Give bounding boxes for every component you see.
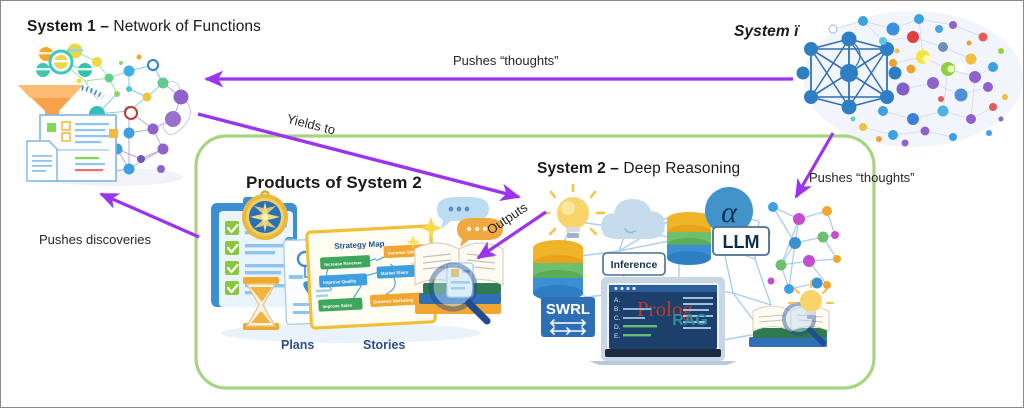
products-caption-plans: Plans — [281, 338, 314, 352]
page-title-system1: System 1 – Network of Functions — [27, 18, 261, 36]
page-title-products: Products of System 2 — [246, 173, 422, 193]
arrow-label-pushes-discoveries: Pushes discoveries — [39, 232, 151, 247]
arrow-label-pushes-thoughts-right: Pushes “thoughts” — [809, 170, 915, 185]
arrow-label-pushes-thoughts-top: Pushes “thoughts” — [453, 53, 559, 68]
page-title-system2: System 2 – Deep Reasoning — [537, 160, 740, 178]
arrow-pushes-thoughts-right — [796, 133, 833, 197]
system1-title-rest: Network of Functions — [109, 18, 261, 35]
products-title-bold: Products of System 2 — [246, 173, 422, 192]
system1-title-bold: System 1 – — [27, 18, 109, 35]
diagram-canvas: Strategy Map Increase Revenue Increase S… — [0, 0, 1024, 408]
arrow-pushes-discoveries — [101, 194, 199, 237]
system-i-title-bold: System ï — [734, 23, 799, 40]
page-title-system-i: System ï — [734, 23, 799, 41]
products-caption-stories: Stories — [363, 338, 405, 352]
system2-title-rest: Deep Reasoning — [619, 160, 740, 177]
system2-title-bold: System 2 – — [537, 160, 619, 177]
